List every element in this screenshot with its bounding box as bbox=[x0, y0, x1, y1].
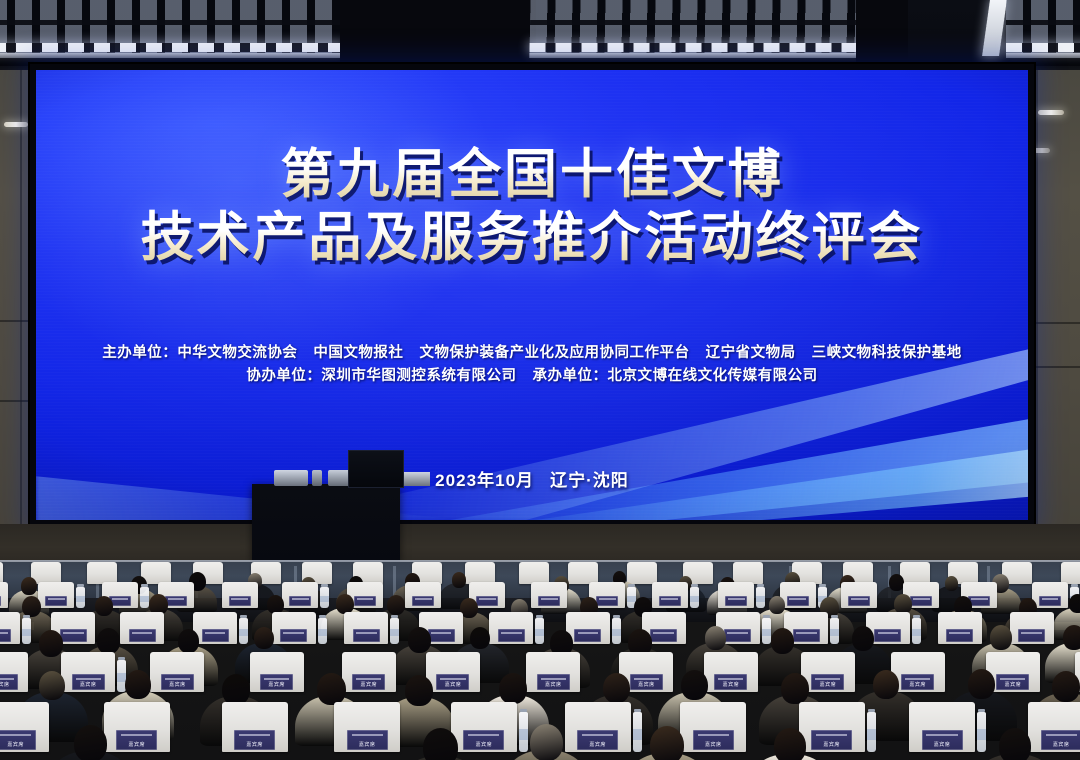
person-head bbox=[21, 577, 37, 595]
seat-placard-text: 嘉宾席 bbox=[820, 683, 837, 688]
organizer-3: 文物保护装备产业化及应用协同工作平台 bbox=[419, 345, 689, 361]
control-desk bbox=[252, 484, 400, 562]
seat-placard bbox=[280, 629, 307, 642]
seat-placard: 嘉宾席 bbox=[436, 674, 469, 690]
person-head bbox=[769, 596, 785, 614]
seat-placard bbox=[412, 596, 434, 606]
seat-placard-text: 嘉宾席 bbox=[723, 683, 740, 688]
chair bbox=[465, 562, 495, 584]
screen-title-block: 第九届全国十佳文博 技术产品及服务推介活动终评会 bbox=[36, 146, 1028, 266]
seat-placard-text: 嘉宾席 bbox=[169, 683, 186, 688]
led-screen: 第九届全国十佳文博 技术产品及服务推介活动终评会 主办单位：中华文物交流协会中国… bbox=[36, 70, 1028, 520]
chair bbox=[0, 582, 8, 608]
seat-placard-text: 嘉宾席 bbox=[934, 743, 951, 748]
water-bottle bbox=[612, 618, 621, 644]
chair bbox=[0, 562, 3, 584]
seat-placard: 嘉宾席 bbox=[922, 730, 963, 750]
person-head bbox=[460, 598, 478, 618]
seat-placard: 嘉宾席 bbox=[630, 674, 663, 690]
ceiling-rail bbox=[529, 53, 859, 58]
screen-date-location: 2023年10月辽宁·沈阳 bbox=[36, 466, 1028, 491]
seat-placard: 嘉宾席 bbox=[347, 730, 388, 750]
seat-placard bbox=[724, 629, 751, 642]
host-label: 承办单位： bbox=[533, 368, 608, 384]
person-head bbox=[945, 576, 958, 591]
person-head bbox=[1052, 671, 1080, 702]
wall-light-left bbox=[4, 122, 28, 127]
audience-area: 嘉宾席 嘉宾席 嘉宾席 bbox=[0, 560, 1080, 760]
seat-placard-text: 嘉宾席 bbox=[705, 743, 722, 748]
seat-placard bbox=[538, 596, 560, 606]
seat-placard: 嘉宾席 bbox=[72, 674, 105, 690]
seat-placard bbox=[289, 596, 311, 606]
person-head bbox=[889, 574, 904, 591]
water-bottle bbox=[390, 618, 399, 644]
seat-placard bbox=[659, 596, 681, 606]
person-head bbox=[650, 726, 684, 760]
seat-placard bbox=[0, 629, 11, 642]
seat-placard bbox=[60, 629, 87, 642]
seat-placard: 嘉宾席 bbox=[0, 674, 18, 690]
water-bottle bbox=[756, 587, 765, 608]
seat-placard bbox=[848, 596, 870, 606]
ceiling-bay-left bbox=[0, 0, 342, 56]
seat-placard: 嘉宾席 bbox=[260, 674, 293, 690]
water-bottle bbox=[519, 712, 528, 752]
seat-placard bbox=[725, 596, 747, 606]
person-head bbox=[705, 626, 726, 650]
seat-placard: 嘉宾席 bbox=[811, 730, 852, 750]
seat-placard: 嘉宾席 bbox=[693, 730, 734, 750]
person-head bbox=[968, 669, 995, 699]
led-screen-frame: 第九届全国十佳文博 技术产品及服务推介活动终评会 主办单位：中华文物交流协会中国… bbox=[30, 64, 1034, 526]
organizer-label: 主办单位： bbox=[102, 345, 177, 361]
cooperator-label: 协办单位： bbox=[246, 368, 321, 384]
person-head bbox=[990, 625, 1012, 650]
seat-placard bbox=[793, 629, 820, 642]
organizer-2: 中国文物报社 bbox=[313, 345, 403, 361]
seat-placard bbox=[650, 629, 677, 642]
seat-placard bbox=[353, 629, 380, 642]
water-bottle bbox=[912, 618, 921, 644]
seat-placard bbox=[45, 596, 67, 606]
ceiling-light-strip bbox=[0, 43, 342, 52]
chair bbox=[568, 562, 598, 584]
person-head bbox=[254, 627, 274, 649]
seat-placard-text: 嘉宾席 bbox=[7, 743, 24, 748]
seat-placard-text: 嘉宾席 bbox=[129, 743, 146, 748]
ceiling-light-strip bbox=[529, 43, 859, 52]
seat-placard: 嘉宾席 bbox=[811, 674, 844, 690]
seat-placard-text: 嘉宾席 bbox=[545, 683, 562, 688]
seat-placard bbox=[229, 596, 251, 606]
person-head bbox=[530, 724, 563, 760]
water-bottle bbox=[977, 712, 986, 752]
seat-placard: 嘉宾席 bbox=[116, 730, 157, 750]
seat-placard bbox=[354, 596, 376, 606]
seat-placard: 嘉宾席 bbox=[234, 730, 275, 750]
seat-placard bbox=[874, 629, 901, 642]
person-head bbox=[408, 627, 431, 653]
water-bottle bbox=[690, 587, 699, 608]
seat-placard bbox=[498, 629, 525, 642]
water-bottle bbox=[867, 712, 876, 752]
chair bbox=[1061, 562, 1080, 584]
seat-placard-text: 嘉宾席 bbox=[1053, 743, 1070, 748]
ceiling-light-strip bbox=[1006, 43, 1080, 52]
seat-placard-text: 嘉宾席 bbox=[80, 683, 97, 688]
seat-placard-text: 嘉宾席 bbox=[638, 683, 655, 688]
seat-placard-text: 嘉宾席 bbox=[1005, 683, 1022, 688]
host-value: 北京文博在线文化传媒有限公司 bbox=[608, 368, 818, 384]
seat-placard-text: 嘉宾席 bbox=[0, 683, 10, 688]
person-head bbox=[178, 629, 199, 653]
chair bbox=[87, 562, 117, 584]
seat-placard bbox=[910, 596, 932, 606]
chair bbox=[627, 562, 657, 584]
screen-title-line-2: 技术产品及服务推介活动终评会 bbox=[36, 209, 1028, 266]
wall-light-right bbox=[1038, 110, 1064, 115]
person-head bbox=[423, 728, 458, 760]
seat-placard bbox=[1018, 629, 1045, 642]
seat-placard-text: 嘉宾席 bbox=[823, 743, 840, 748]
water-bottle bbox=[318, 618, 327, 644]
ceiling-rail bbox=[1006, 53, 1080, 58]
seat-placard bbox=[787, 596, 809, 606]
seat-placard: 嘉宾席 bbox=[714, 674, 747, 690]
organizer-1: 中华文物交流协会 bbox=[177, 345, 297, 361]
seat-placard-text: 嘉宾席 bbox=[476, 743, 493, 748]
water-bottle bbox=[76, 587, 85, 608]
seat-placard bbox=[165, 596, 187, 606]
seat-placard-text: 嘉宾席 bbox=[445, 683, 462, 688]
person-head bbox=[452, 572, 466, 588]
seat-placard bbox=[129, 629, 156, 642]
seat-placard: 嘉宾席 bbox=[463, 730, 504, 750]
water-bottle bbox=[22, 618, 31, 644]
organizer-4: 辽宁省文物局 bbox=[706, 345, 796, 361]
person-head bbox=[387, 595, 405, 615]
seat-placard bbox=[476, 596, 498, 606]
water-bottle bbox=[140, 587, 149, 608]
event-location: 辽宁·沈阳 bbox=[550, 471, 629, 490]
water-bottle bbox=[633, 712, 642, 752]
water-bottle bbox=[320, 587, 329, 608]
water-bottle bbox=[762, 618, 771, 644]
seat-placard: 嘉宾席 bbox=[0, 730, 36, 750]
seat-placard: 嘉宾席 bbox=[996, 674, 1029, 690]
seat-placard-text: 嘉宾席 bbox=[589, 743, 606, 748]
person-head bbox=[499, 673, 527, 704]
wall-light-right-2 bbox=[1034, 148, 1050, 153]
seat-placard bbox=[428, 629, 455, 642]
cooperator-line: 协办单位：深圳市华图测控系统有限公司承办单位：北京文博在线文化传媒有限公司 bbox=[36, 365, 1028, 388]
person-head bbox=[603, 673, 630, 703]
desk-equipment-4 bbox=[404, 472, 430, 486]
ceiling-gap-left bbox=[340, 0, 536, 72]
seat-placard bbox=[596, 596, 618, 606]
cooperator-value: 深圳市华图测控系统有限公司 bbox=[321, 368, 516, 384]
seat-placard-text: 嘉宾席 bbox=[246, 743, 263, 748]
person-head bbox=[781, 673, 809, 704]
water-bottle bbox=[535, 618, 544, 644]
desk-equipment-1 bbox=[274, 470, 308, 486]
person-head bbox=[222, 674, 250, 705]
screen-content: 第九届全国十佳文博 技术产品及服务推介活动终评会 主办单位：中华文物交流协会中国… bbox=[36, 70, 1028, 520]
person-head bbox=[774, 728, 806, 760]
seat-placard: 嘉宾席 bbox=[577, 730, 618, 750]
person-head bbox=[125, 670, 151, 699]
person-head bbox=[873, 670, 899, 699]
ceiling bbox=[0, 0, 1080, 72]
person-head bbox=[95, 596, 113, 616]
ceiling-gap-center bbox=[856, 0, 908, 72]
person-head bbox=[1063, 625, 1080, 650]
person-head bbox=[1069, 594, 1080, 613]
chair bbox=[900, 562, 930, 584]
person-head bbox=[681, 670, 708, 700]
seat-placard bbox=[202, 629, 229, 642]
person-head bbox=[771, 628, 794, 654]
event-date: 2023年10月 bbox=[435, 471, 534, 490]
ceiling-vertical-light bbox=[982, 0, 1007, 56]
person-head bbox=[39, 671, 65, 700]
seat-placard: 嘉宾席 bbox=[537, 674, 570, 690]
person-head bbox=[405, 675, 433, 706]
seat-placard: 嘉宾席 bbox=[1041, 730, 1080, 750]
water-bottle bbox=[830, 618, 839, 644]
person-head bbox=[999, 728, 1031, 760]
chair bbox=[519, 562, 549, 584]
seat-placard-text: 嘉宾席 bbox=[361, 683, 378, 688]
ceiling-bay-right bbox=[1006, 0, 1080, 56]
chair bbox=[733, 562, 763, 584]
seat-placard bbox=[1039, 596, 1061, 606]
person-head bbox=[317, 673, 346, 705]
seat-placard: 嘉宾席 bbox=[352, 674, 385, 690]
ceiling-rail bbox=[0, 53, 342, 58]
water-bottle bbox=[239, 618, 248, 644]
seat-placard bbox=[946, 629, 973, 642]
person-head bbox=[852, 626, 874, 651]
desk-monitor bbox=[348, 450, 404, 488]
organizer-5: 三峡文物科技保护基地 bbox=[812, 345, 962, 361]
seat-placard bbox=[574, 629, 601, 642]
person-head bbox=[470, 627, 490, 649]
desk-equipment-2 bbox=[312, 470, 322, 486]
person-head bbox=[39, 630, 63, 657]
screen-organizer-block: 主办单位：中华文物交流协会中国文物报社文物保护装备产业化及应用协同工作平台辽宁省… bbox=[36, 342, 1028, 389]
person-head bbox=[97, 628, 120, 654]
seat-placard-text: 嘉宾席 bbox=[909, 683, 926, 688]
person-body bbox=[0, 751, 15, 760]
seat-placard: 嘉宾席 bbox=[161, 674, 194, 690]
person-head bbox=[74, 725, 107, 760]
seat-placard-text: 嘉宾席 bbox=[268, 683, 285, 688]
screen-title-line-1: 第九届全国十佳文博 bbox=[36, 146, 1028, 203]
organizer-line: 主办单位：中华文物交流协会中国文物报社文物保护装备产业化及应用协同工作平台辽宁省… bbox=[36, 342, 1028, 365]
ceiling-bay-center bbox=[529, 0, 860, 56]
seat-placard-text: 嘉宾席 bbox=[359, 743, 376, 748]
conference-photo: 第九届全国十佳文博 技术产品及服务推介活动终评会 主办单位：中华文物交流协会中国… bbox=[0, 0, 1080, 760]
seat-placard: 嘉宾席 bbox=[901, 674, 934, 690]
